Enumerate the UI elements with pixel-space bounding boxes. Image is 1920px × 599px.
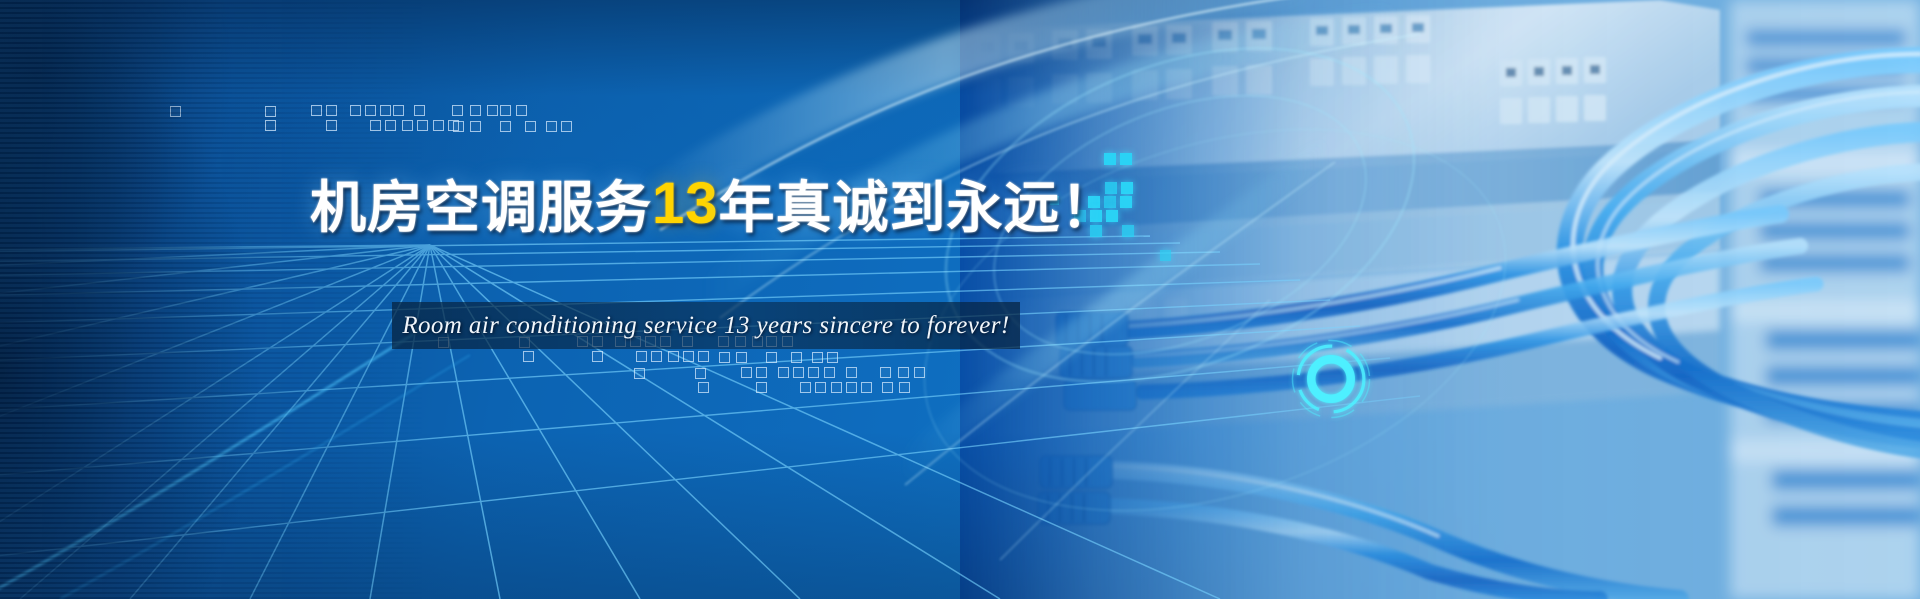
- headline-years-number: 13: [652, 170, 719, 237]
- promo-banner: 机房空调服务13年真诚到永远！ Room air conditioning se…: [0, 0, 1920, 599]
- subtitle-text: Room air conditioning service 13 years s…: [402, 312, 1009, 340]
- headline: 机房空调服务13年真诚到永远！: [310, 168, 1070, 238]
- headline-part-2: 年真诚到永远！: [719, 163, 1118, 244]
- headline-part-1: 机房空调服务: [310, 163, 652, 244]
- background-streaks: [0, 0, 430, 599]
- subtitle-band: Room air conditioning service 13 years s…: [392, 302, 1020, 349]
